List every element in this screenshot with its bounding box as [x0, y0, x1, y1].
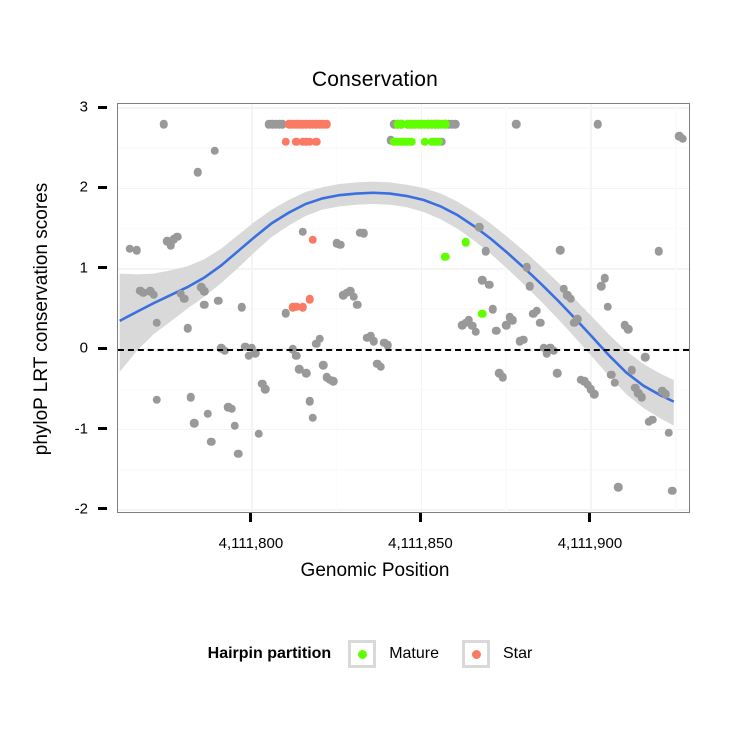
data-point-unassigned — [370, 337, 379, 346]
y-tick-label: 2 — [48, 179, 88, 196]
plot-panel — [117, 103, 690, 513]
data-point-unassigned — [590, 390, 599, 399]
data-point-unassigned — [668, 486, 677, 495]
legend-key-star[interactable] — [462, 640, 490, 668]
data-point-mature — [407, 138, 416, 147]
data-point-unassigned — [319, 361, 328, 370]
data-point-star — [305, 295, 314, 304]
data-point-star — [322, 120, 331, 129]
data-point-unassigned — [200, 301, 209, 310]
data-point-unassigned — [329, 377, 338, 386]
data-point-unassigned — [336, 240, 345, 249]
zero-reference-line — [118, 349, 689, 351]
y-tick — [98, 106, 107, 109]
data-point-star — [282, 138, 291, 147]
x-tick — [588, 513, 591, 522]
data-point-unassigned — [227, 404, 236, 413]
data-point-unassigned — [627, 366, 636, 375]
data-point-unassigned — [624, 325, 633, 334]
y-tick-label: 0 — [48, 340, 88, 357]
data-point-unassigned — [153, 396, 162, 405]
data-point-unassigned — [132, 246, 141, 255]
data-point-unassigned — [254, 429, 263, 438]
data-point-unassigned — [600, 274, 609, 283]
data-point-unassigned — [509, 316, 518, 325]
mature-color-swatch — [358, 650, 367, 659]
data-point-unassigned — [190, 419, 199, 428]
data-point-unassigned — [377, 363, 386, 372]
data-point-unassigned — [655, 247, 664, 256]
data-point-unassigned — [594, 120, 603, 129]
chart-page: Conservation phyloP LRT conservation sco… — [0, 0, 750, 750]
y-tick — [98, 186, 107, 189]
data-point-unassigned — [353, 301, 362, 310]
data-point-unassigned — [661, 390, 670, 399]
data-point-unassigned — [678, 134, 687, 143]
y-tick-label: 1 — [48, 259, 88, 276]
data-point-unassigned — [485, 281, 494, 290]
legend: Hairpin partition Mature Star — [0, 640, 750, 668]
data-point-star — [299, 303, 308, 312]
y-tick-label: -1 — [48, 420, 88, 437]
data-point-unassigned — [238, 303, 247, 312]
data-point-unassigned — [183, 324, 192, 333]
data-point-unassigned — [566, 294, 575, 303]
x-tick — [419, 513, 422, 522]
data-point-unassigned — [204, 409, 213, 418]
data-point-unassigned — [200, 287, 209, 296]
data-point-unassigned — [597, 282, 606, 291]
data-point-unassigned — [499, 373, 508, 382]
data-point-unassigned — [173, 232, 182, 241]
data-point-unassigned — [305, 397, 314, 406]
data-point-unassigned — [614, 483, 623, 492]
x-tick — [249, 513, 252, 522]
legend-key-mature[interactable] — [348, 640, 376, 668]
data-point-mature — [441, 252, 450, 261]
data-point-unassigned — [532, 306, 541, 315]
data-point-unassigned — [638, 393, 647, 402]
x-tick-label: 4,111,900 — [520, 535, 660, 552]
data-point-unassigned — [231, 421, 240, 430]
y-tick-label: 3 — [48, 99, 88, 116]
data-point-mature — [461, 238, 470, 247]
data-point-unassigned — [488, 305, 497, 314]
y-tick — [98, 507, 107, 510]
data-point-unassigned — [214, 297, 223, 306]
data-point-unassigned — [451, 120, 460, 129]
data-point-unassigned — [315, 334, 324, 343]
data-point-unassigned — [383, 341, 392, 350]
data-point-unassigned — [149, 290, 158, 299]
legend-title: Hairpin partition — [208, 645, 332, 663]
data-point-unassigned — [187, 393, 196, 402]
y-tick — [98, 427, 107, 430]
x-axis-title: Genomic Position — [0, 560, 750, 582]
data-point-unassigned — [648, 416, 657, 425]
data-point-unassigned — [556, 246, 565, 255]
x-axis: 4,111,8004,111,8504,111,900 — [117, 513, 690, 553]
data-point-unassigned — [153, 318, 162, 327]
page-title: Conservation — [0, 68, 750, 92]
data-point-unassigned — [536, 318, 545, 327]
data-point-unassigned — [360, 229, 369, 238]
data-point-mature — [478, 310, 487, 319]
data-point-unassigned — [299, 228, 308, 237]
data-point-unassigned — [180, 294, 189, 303]
data-point-unassigned — [482, 247, 491, 256]
data-point-unassigned — [302, 369, 311, 378]
data-point-unassigned — [512, 120, 521, 129]
data-point-unassigned — [210, 146, 219, 155]
data-point-unassigned — [207, 437, 216, 446]
data-point-unassigned — [553, 369, 562, 378]
star-color-swatch — [472, 650, 481, 659]
data-point-unassigned — [160, 120, 169, 129]
data-point-unassigned — [471, 327, 480, 336]
legend-label-star: Star — [503, 645, 532, 663]
data-point-mature — [441, 120, 450, 129]
data-point-unassigned — [292, 351, 301, 360]
data-point-unassigned — [573, 315, 582, 324]
data-point-unassigned — [604, 302, 613, 311]
data-point-unassigned — [610, 379, 619, 388]
data-point-unassigned — [475, 223, 484, 232]
data-point-star — [309, 236, 318, 245]
data-point-unassigned — [261, 385, 270, 394]
data-point-unassigned — [309, 413, 318, 422]
y-tick-label: -2 — [48, 500, 88, 517]
data-point-unassigned — [234, 449, 243, 458]
data-point-unassigned — [492, 326, 501, 335]
data-point-unassigned — [526, 282, 535, 291]
data-point-mature — [434, 138, 443, 147]
data-point-unassigned — [519, 335, 528, 344]
y-axis: -2-10123 — [0, 103, 107, 513]
data-point-unassigned — [641, 353, 650, 362]
y-tick — [98, 266, 107, 269]
x-tick-label: 4,111,800 — [181, 535, 321, 552]
data-point-unassigned — [193, 168, 202, 177]
y-tick — [98, 347, 107, 350]
legend-label-mature: Mature — [389, 645, 439, 663]
data-point-star — [312, 138, 321, 147]
x-tick-label: 4,111,850 — [350, 535, 490, 552]
data-point-unassigned — [665, 429, 674, 438]
data-point-unassigned — [522, 263, 531, 272]
